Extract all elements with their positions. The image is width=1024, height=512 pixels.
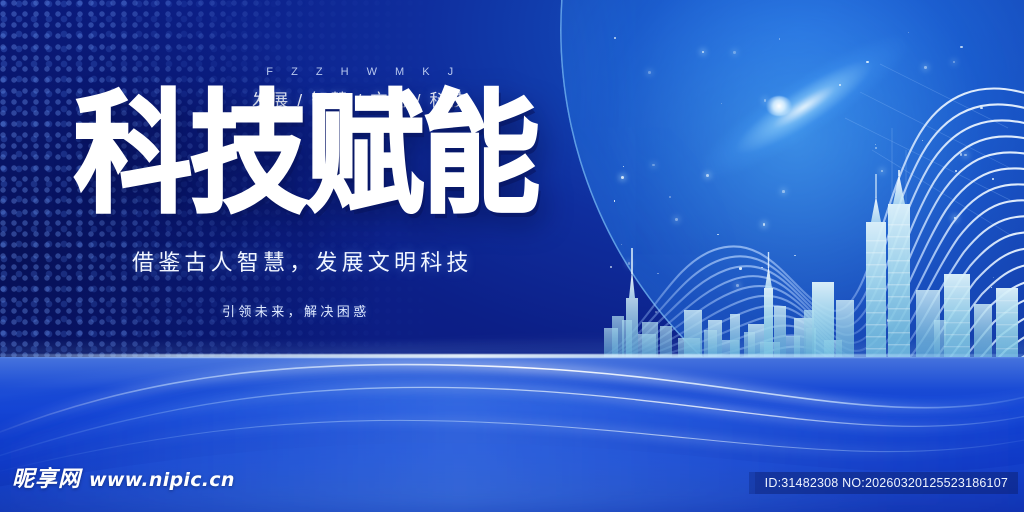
brand-url: www.nipic.cn — [89, 471, 235, 490]
subtitle: 借鉴古人智慧，发展文明科技 — [132, 245, 473, 277]
watermark-logo: 昵享网 www.nipic.cn — [12, 469, 235, 491]
tagline: 引领未来，解决困惑 — [222, 301, 370, 320]
poster-canvas: F Z Z H W M K J 发展 / 智慧 / 文明 / 科技 科技赋能 借… — [0, 0, 1024, 512]
headline-block: F Z Z H W M K J 发展 / 智慧 / 文明 / 科技 科技赋能 借… — [0, 0, 660, 360]
page-title: 科技赋能 — [74, 88, 538, 220]
asset-id-badge: ID:31482308 NO:20260320125523186107 — [755, 472, 1018, 494]
brand-mark: 昵享网 — [12, 469, 81, 491]
